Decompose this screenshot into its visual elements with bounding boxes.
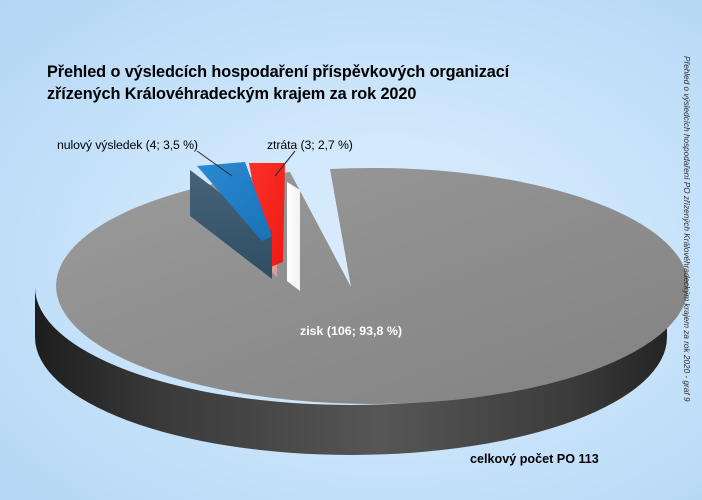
pie-slice-zisk-side [35, 287, 667, 455]
footer-total-count: celkový počet PO 113 [470, 452, 599, 466]
leader-line-ztrata [275, 151, 295, 176]
page-title: Přehled o výsledcích hospodaření příspěv… [47, 62, 607, 105]
title-line-1: Přehled o výsledcích hospodaření příspěv… [47, 63, 509, 81]
title-line-2: zřízených Královéhradeckým krajem za rok… [47, 84, 607, 106]
slide-canvas: Přehled o výsledcích hospodaření příspěv… [0, 0, 702, 500]
side-caption: Přehled o výsledcích hospodaření PO zříz… [674, 0, 700, 500]
side-caption-text: Přehled o výsledcích hospodaření PO zříz… [682, 56, 691, 402]
pie-slice-nulovy-top [197, 162, 272, 241]
callout-label-ztrata: ztráta (3; 2,7 %) [267, 138, 353, 152]
pie-slice-zisk-top [56, 168, 688, 404]
leader-line-nulovy [197, 151, 232, 176]
pie-slice-ztrata-top [249, 163, 285, 268]
callout-label-nulovy-vysledek: nulový výsledek (4; 3,5 %) [57, 138, 198, 152]
pie-slice-nulovy-side [190, 170, 272, 279]
pie-slice-ztrata-side [265, 168, 277, 277]
pie-slice-zisk-inner-wall [287, 281, 300, 341]
pie-gap-wall [287, 182, 300, 291]
pie-slice-label-zisk: zisk (106; 93,8 %) [300, 324, 402, 338]
